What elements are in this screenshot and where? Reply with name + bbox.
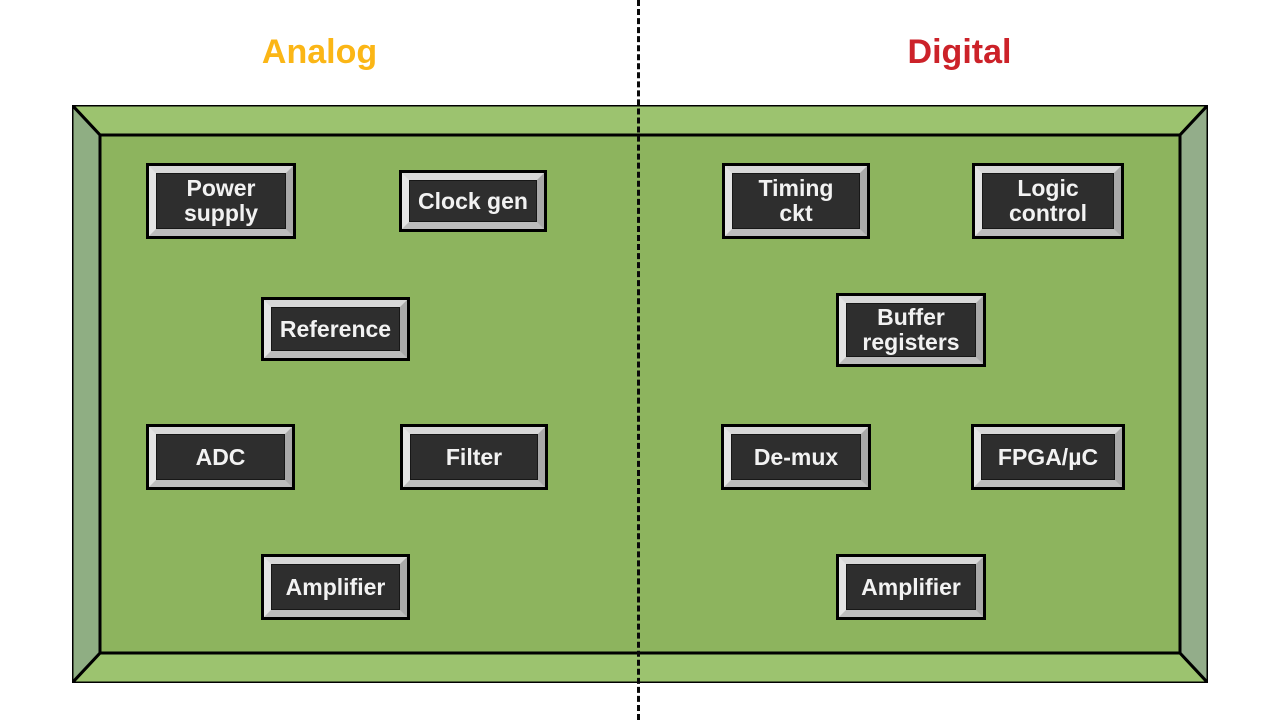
module-label: ADC [192, 445, 250, 470]
chip-bevel-top [72, 105, 1208, 135]
chip-bevel-right [1180, 105, 1208, 683]
module-amplifier-digital[interactable]: Amplifier [836, 554, 986, 620]
module-label: Reference [276, 317, 395, 342]
module-fpga-mcu[interactable]: FPGA/µC [971, 424, 1125, 490]
module-label: Timing ckt [755, 176, 838, 225]
module-label: De-mux [750, 445, 842, 470]
module-adc[interactable]: ADC [146, 424, 295, 490]
section-title-digital: Digital [639, 33, 1280, 72]
module-amplifier-analog[interactable]: Amplifier [261, 554, 410, 620]
module-clock-gen[interactable]: Clock gen [399, 170, 547, 232]
module-buffer-registers[interactable]: Buffer registers [836, 293, 986, 367]
module-filter[interactable]: Filter [400, 424, 548, 490]
module-reference[interactable]: Reference [261, 297, 410, 361]
module-label: Amplifier [857, 575, 965, 600]
chip-bevel-bottom [72, 653, 1208, 683]
module-timing-ckt[interactable]: Timing ckt [722, 163, 870, 239]
module-power-supply[interactable]: Power supply [146, 163, 296, 239]
module-label: Clock gen [414, 189, 532, 214]
module-label: Filter [442, 445, 506, 470]
module-label: Power supply [180, 176, 262, 225]
analog-digital-divider [637, 0, 640, 720]
module-label: Logic control [1005, 176, 1091, 225]
module-de-mux[interactable]: De-mux [721, 424, 871, 490]
module-label: FPGA/µC [994, 445, 1102, 470]
section-title-analog: Analog [0, 33, 639, 72]
module-label: Buffer registers [858, 305, 963, 354]
module-label: Amplifier [282, 575, 390, 600]
module-logic-control[interactable]: Logic control [972, 163, 1124, 239]
chip-bevel-left [72, 105, 100, 683]
